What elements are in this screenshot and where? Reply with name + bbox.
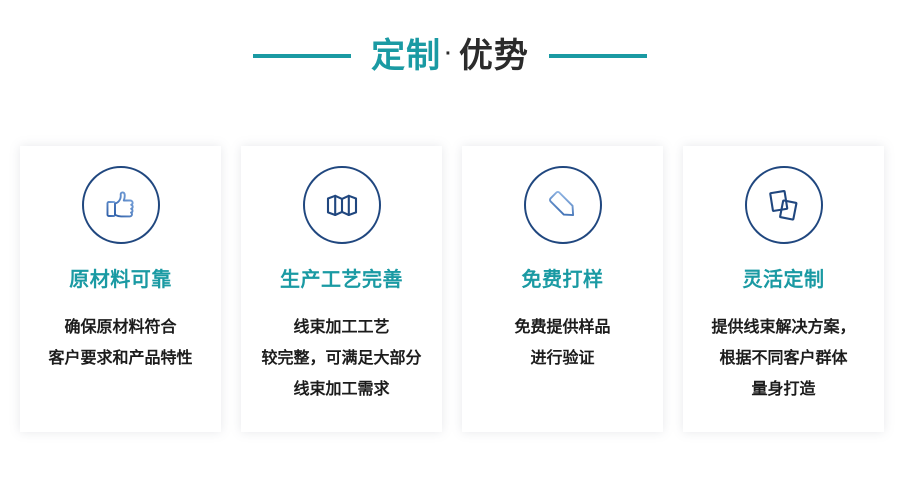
section-header: 定制 · 优势 xyxy=(0,26,900,86)
page-title-main: 优势 xyxy=(459,39,529,73)
feature-card-description: 线束加工工艺较完整，可满足大部分线束加工需求 xyxy=(249,312,434,405)
stacked-cards-icon xyxy=(745,166,823,244)
thumbs-up-icon xyxy=(82,166,160,244)
feature-card[interactable]: 免费打样 免费提供样品进行验证 xyxy=(462,146,663,432)
feature-card-title: 生产工艺完善 xyxy=(280,270,403,290)
feature-card-title: 灵活定制 xyxy=(743,270,825,290)
feature-card[interactable]: 原材料可靠 确保原材料符合客户要求和产品特性 xyxy=(20,146,221,432)
header-rule-left xyxy=(253,54,351,58)
feature-card[interactable]: 生产工艺完善 线束加工工艺较完整，可满足大部分线束加工需求 xyxy=(241,146,442,432)
page-title: 定制 · 优势 xyxy=(371,39,529,73)
feature-card-description: 确保原材料符合客户要求和产品特性 xyxy=(28,312,213,374)
page-title-accent: 定制 xyxy=(371,39,441,73)
folded-map-icon xyxy=(303,166,381,244)
feature-card-title: 原材料可靠 xyxy=(69,270,172,290)
header-rule-right xyxy=(549,54,647,58)
pencil-icon xyxy=(524,166,602,244)
page-title-separator: · xyxy=(445,44,453,64)
feature-card-title: 免费打样 xyxy=(522,270,604,290)
feature-card[interactable]: 灵活定制 提供线束解决方案，根据不同客户群体量身打造 xyxy=(683,146,884,432)
feature-card-description: 免费提供样品进行验证 xyxy=(470,312,655,374)
feature-card-row: 原材料可靠 确保原材料符合客户要求和产品特性 生产工艺完善 线束加工工艺较完整，… xyxy=(20,146,886,432)
feature-card-description: 提供线束解决方案，根据不同客户群体量身打造 xyxy=(691,312,876,405)
